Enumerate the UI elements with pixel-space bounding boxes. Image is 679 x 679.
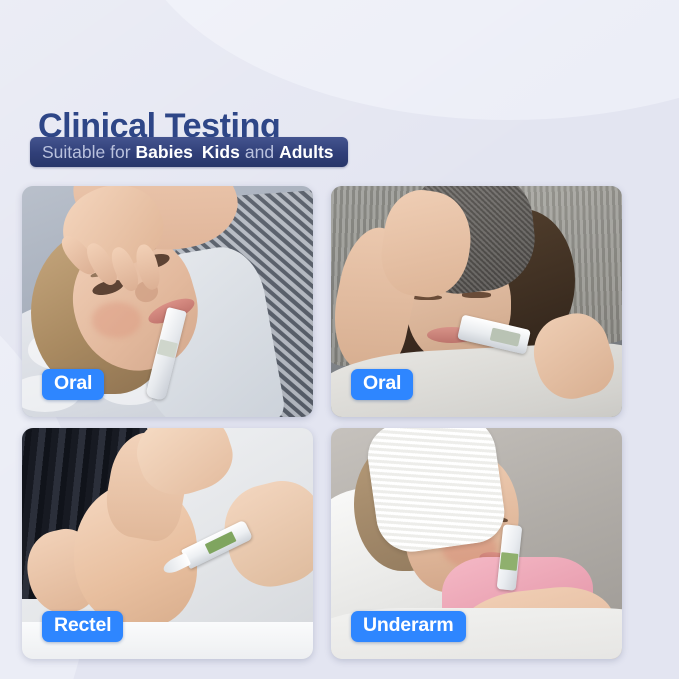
badge-underarm: Underarm xyxy=(351,611,466,642)
suitability-conjunction: and xyxy=(245,142,274,163)
suitability-prefix: Suitable for xyxy=(42,142,131,163)
usage-photo-grid: Oral Oral xyxy=(22,186,622,659)
photo-card-rectal-baby: Rectel xyxy=(22,428,313,659)
photo-card-underarm-child: Underarm xyxy=(331,428,622,659)
suitability-group-babies: Babies xyxy=(136,142,193,163)
badge-oral-adult: Oral xyxy=(351,369,413,400)
badge-oral-child: Oral xyxy=(42,369,104,400)
badge-rectal: Rectel xyxy=(42,611,123,642)
suitability-group-kids: Kids xyxy=(202,142,240,163)
photo-card-oral-adult: Oral xyxy=(331,186,622,417)
suitability-banner: Suitable for Babies Kids and Adults xyxy=(30,137,348,167)
promo-banner-page: Clinical Testing More Convincing Suitabl… xyxy=(0,0,679,679)
suitability-group-adults: Adults xyxy=(279,142,333,163)
photo-card-oral-child: Oral xyxy=(22,186,313,417)
